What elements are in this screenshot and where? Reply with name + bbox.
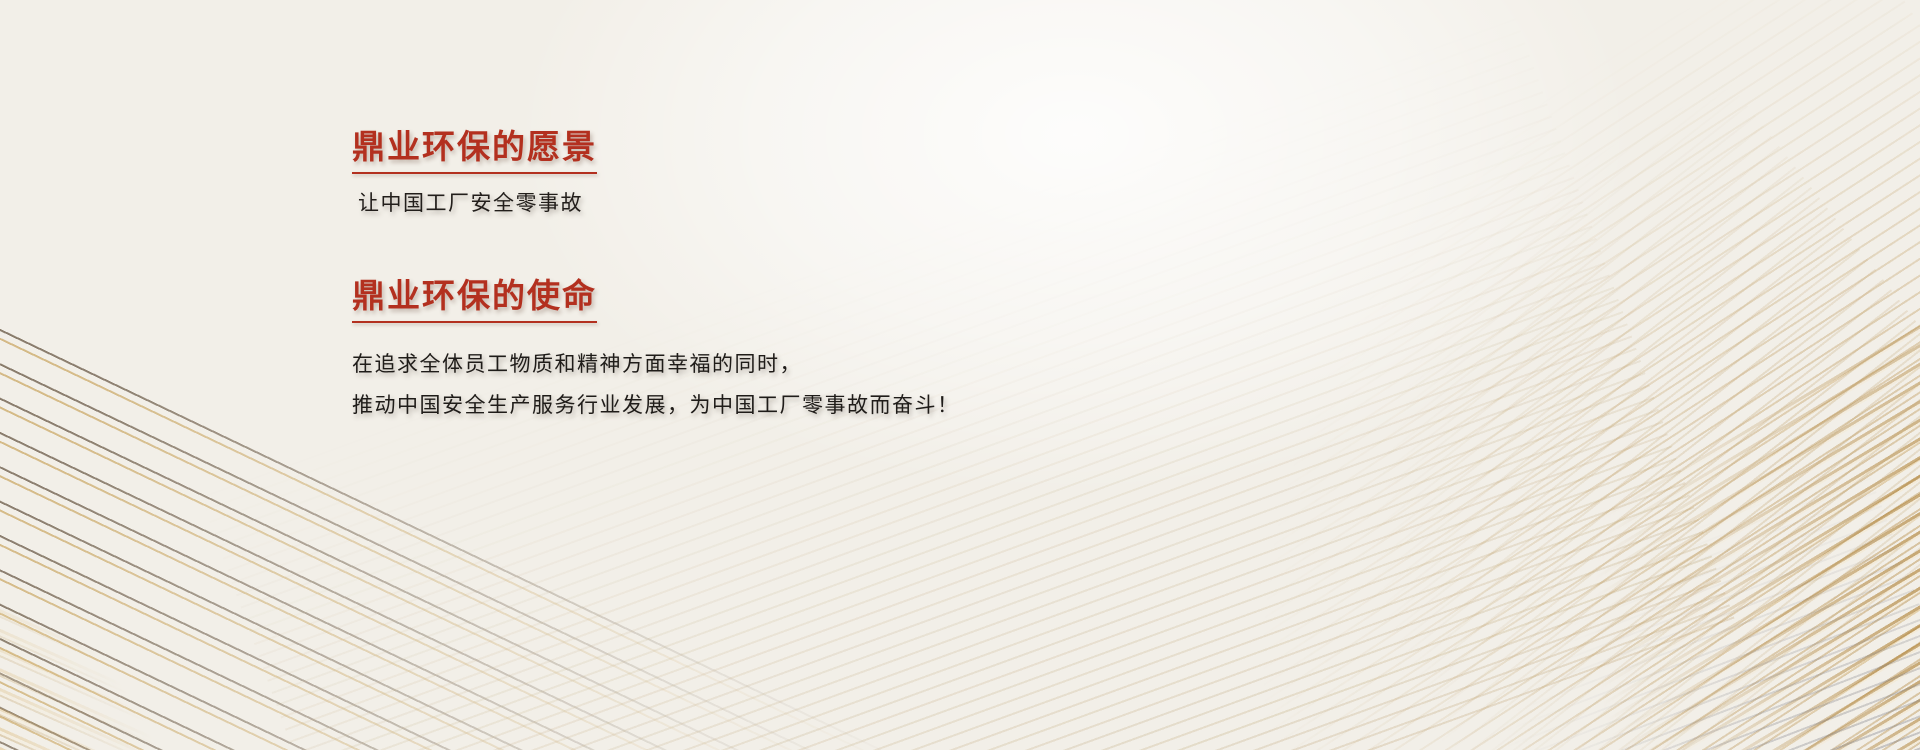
mission-heading: 鼎业环保的使命 <box>352 277 597 323</box>
diagonal-lines-gold-left-decoration <box>0 470 842 750</box>
vision-heading: 鼎业环保的愿景 <box>352 128 597 174</box>
mission-body-line-2: 推动中国安全生产服务行业发展，为中国工厂零事故而奋斗！ <box>352 386 1172 427</box>
vision-mission-banner: 鼎业环保的愿景 让中国工厂安全零事故 鼎业环保的使命 在追求全体员工物质和精神方… <box>0 0 1920 750</box>
diagonal-lines-silver-decoration <box>1065 373 1920 750</box>
mission-body-text: 在追求全体员工物质和精神方面幸福的同时， 推动中国安全生产服务行业发展，为中国工… <box>352 345 1172 427</box>
banner-text-content: 鼎业环保的愿景 让中国工厂安全零事故 鼎业环保的使命 在追求全体员工物质和精神方… <box>352 128 1172 427</box>
diagonal-lines-gold-right-decoration <box>1243 210 1920 750</box>
mission-body-line-1: 在追求全体员工物质和精神方面幸福的同时， <box>352 345 1172 386</box>
vision-subtitle: 让中国工厂安全零事故 <box>358 188 1172 220</box>
vision-block: 鼎业环保的愿景 让中国工厂安全零事故 <box>352 128 1172 219</box>
mission-block: 鼎业环保的使命 在追求全体员工物质和精神方面幸福的同时， 推动中国安全生产服务行… <box>352 277 1172 427</box>
